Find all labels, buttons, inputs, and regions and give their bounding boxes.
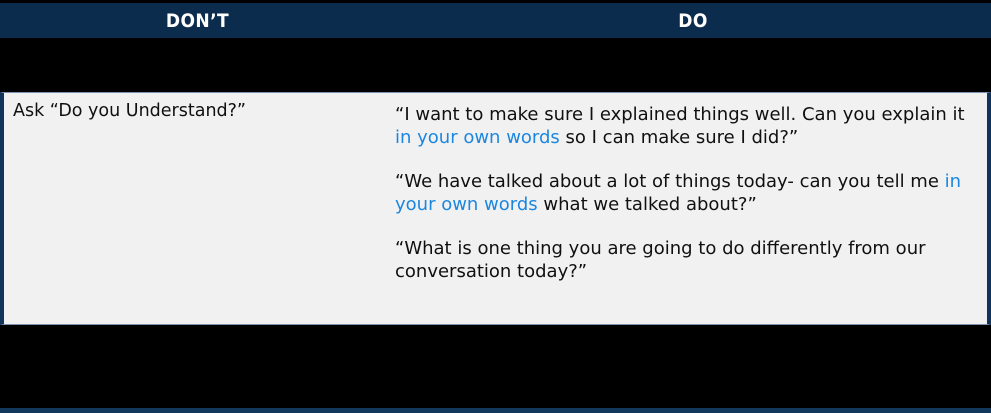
do-paragraph-1-tail: so I can make sure I did?” (560, 127, 798, 148)
do-paragraph-3: “What is one thing you are going to do d… (395, 237, 973, 283)
column-header-dont: DON’T (0, 3, 395, 38)
do-paragraph-2-tail: what we talked about?” (538, 194, 757, 215)
spacer-band-top (0, 38, 991, 92)
table-row: Ask “Do you Understand?” “I want to make… (0, 92, 991, 325)
table-header-band: DON’T DO (0, 3, 991, 38)
do-paragraph-2: “We have talked about a lot of things to… (395, 170, 973, 216)
do-paragraph-2-lead: “We have talked about a lot of things to… (395, 171, 945, 192)
do-paragraph-1: “I want to make sure I explained things … (395, 103, 973, 149)
cell-dont-text: Ask “Do you Understand?” (13, 103, 387, 121)
column-header-do-label: DO (678, 10, 708, 32)
column-header-do: DO (395, 3, 991, 38)
column-header-dont-label: DON’T (166, 10, 229, 32)
spacer-band-bottom (0, 325, 991, 408)
do-paragraph-3-lead: “What is one thing you are going to do d… (395, 238, 926, 282)
comparison-table: DON’T DO Ask “Do you Understand?” “I wan… (0, 0, 991, 413)
do-paragraph-1-lead: “I want to make sure I explained things … (395, 104, 965, 125)
do-paragraph-1-accent: in your own words (395, 127, 560, 148)
cell-dont: Ask “Do you Understand?” (4, 93, 395, 121)
cell-do: “I want to make sure I explained things … (395, 93, 987, 283)
bottom-accent-strip (0, 408, 991, 413)
